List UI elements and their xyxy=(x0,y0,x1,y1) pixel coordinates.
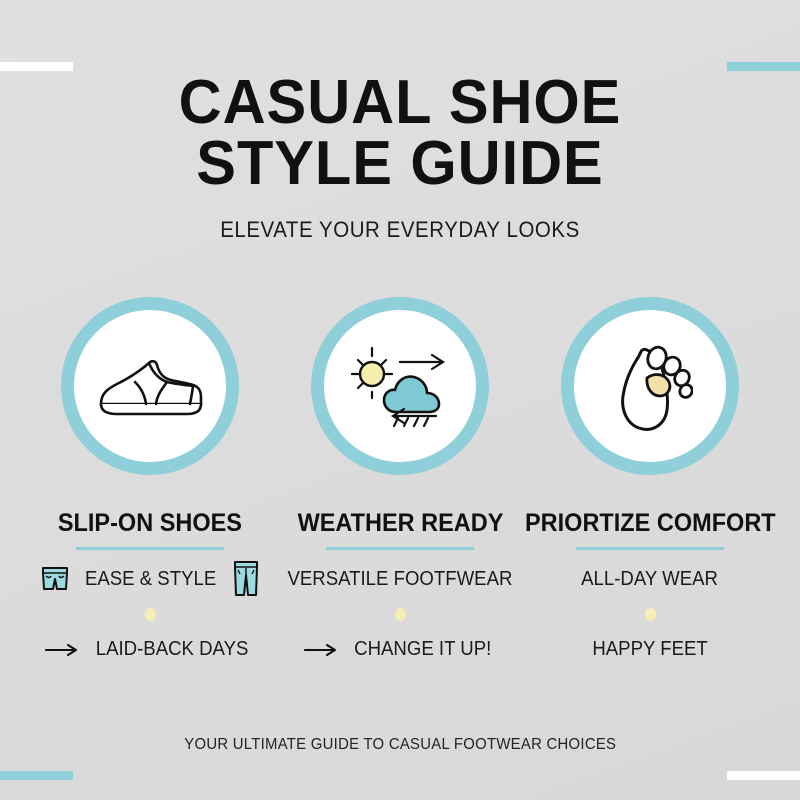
corner-bracket-bottom-right xyxy=(727,679,800,780)
page-title-line-1: CASUAL SHOE xyxy=(16,72,784,133)
column-note: HAPPY FEET xyxy=(592,638,707,661)
column-subtext: ALL-DAY WEAR xyxy=(582,568,719,591)
column-sub-row: VERSATILE FOOTFWEAR xyxy=(279,562,521,596)
heading-underline xyxy=(576,547,724,550)
column-heading: PRIORTIZE COMFORT xyxy=(525,509,776,538)
heading-underline xyxy=(76,547,224,550)
column-note: CHANGE IT UP! xyxy=(354,638,491,661)
page-title-line-2: STYLE GUIDE xyxy=(16,133,784,194)
corner-bracket-bottom-left xyxy=(0,679,73,780)
feature-column-slip-on-shoes: SLIP-ON SHOES EASE & STYLE xyxy=(25,297,275,661)
column-note-row: HAPPY FEET xyxy=(588,638,712,661)
shorts-icon xyxy=(40,565,70,593)
column-note: LAID-BACK DAYS xyxy=(96,638,249,661)
arrow-right-icon xyxy=(304,644,338,656)
feature-column-priortize-comfort: PRIORTIZE COMFORT ALL-DAY WEAR HAPPY FEE… xyxy=(525,297,775,661)
column-subtext: VERSATILE FOOTFWEAR xyxy=(288,568,513,591)
divider-dot xyxy=(145,608,156,621)
divider-dot xyxy=(395,608,406,621)
footprint-icon xyxy=(607,334,693,438)
column-heading: WEATHER READY xyxy=(297,509,503,538)
slip-on-shoe-icon xyxy=(91,346,209,426)
column-heading: SLIP-ON SHOES xyxy=(58,509,242,538)
bermuda-shorts-icon xyxy=(232,559,260,599)
poster-footer: YOUR ULTIMATE GUIDE TO CASUAL FOOTWEAR C… xyxy=(0,736,800,754)
column-note-row: CHANGE IT UP! xyxy=(304,638,496,661)
column-subtext: EASE & STYLE xyxy=(85,568,216,591)
page-subtitle: ELEVATE YOUR EVERYDAY LOOKS xyxy=(28,217,772,243)
arrow-right-icon xyxy=(45,644,79,656)
icon-circle-weather-ready xyxy=(311,297,489,475)
sun-cloud-weather-icon xyxy=(344,340,456,432)
divider-dot xyxy=(645,608,656,621)
footer-text: YOUR ULTIMATE GUIDE TO CASUAL FOOTWEAR C… xyxy=(184,736,616,754)
heading-underline xyxy=(326,547,474,550)
poster-header: CASUAL SHOE STYLE GUIDE ELEVATE YOUR EVE… xyxy=(0,72,800,243)
infographic-poster: CASUAL SHOE STYLE GUIDE ELEVATE YOUR EVE… xyxy=(0,0,800,800)
column-sub-row: EASE & STYLE xyxy=(40,562,259,596)
icon-circle-priortize-comfort xyxy=(561,297,739,475)
column-sub-row: ALL-DAY WEAR xyxy=(576,562,723,596)
column-note-row: LAID-BACK DAYS xyxy=(45,638,254,661)
icon-circle-slip-on-shoes xyxy=(61,297,239,475)
feature-columns: SLIP-ON SHOES EASE & STYLE xyxy=(0,297,800,661)
feature-column-weather-ready: WEATHER READY VERSATILE FOOTFWEAR CHANGE… xyxy=(275,297,525,661)
